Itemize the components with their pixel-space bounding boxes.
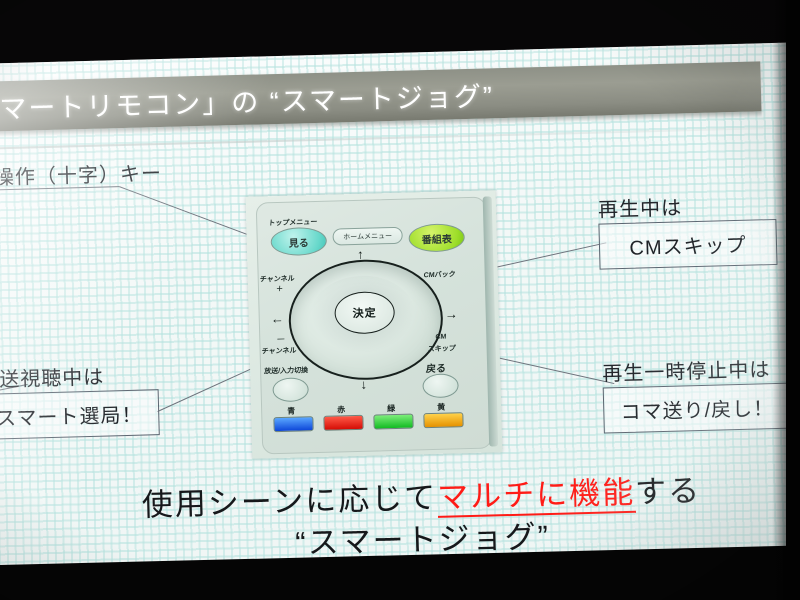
screenshot-root: スマートリモコン」の “スマートジョグ” トップメニュー 見る ホームメニュー …	[0, 0, 800, 600]
screen-right-edge	[786, 0, 800, 600]
projected-slide: スマートリモコン」の “スマートジョグ” トップメニュー 見る ホームメニュー …	[0, 41, 800, 580]
projector-sheen-overlay	[0, 41, 800, 580]
